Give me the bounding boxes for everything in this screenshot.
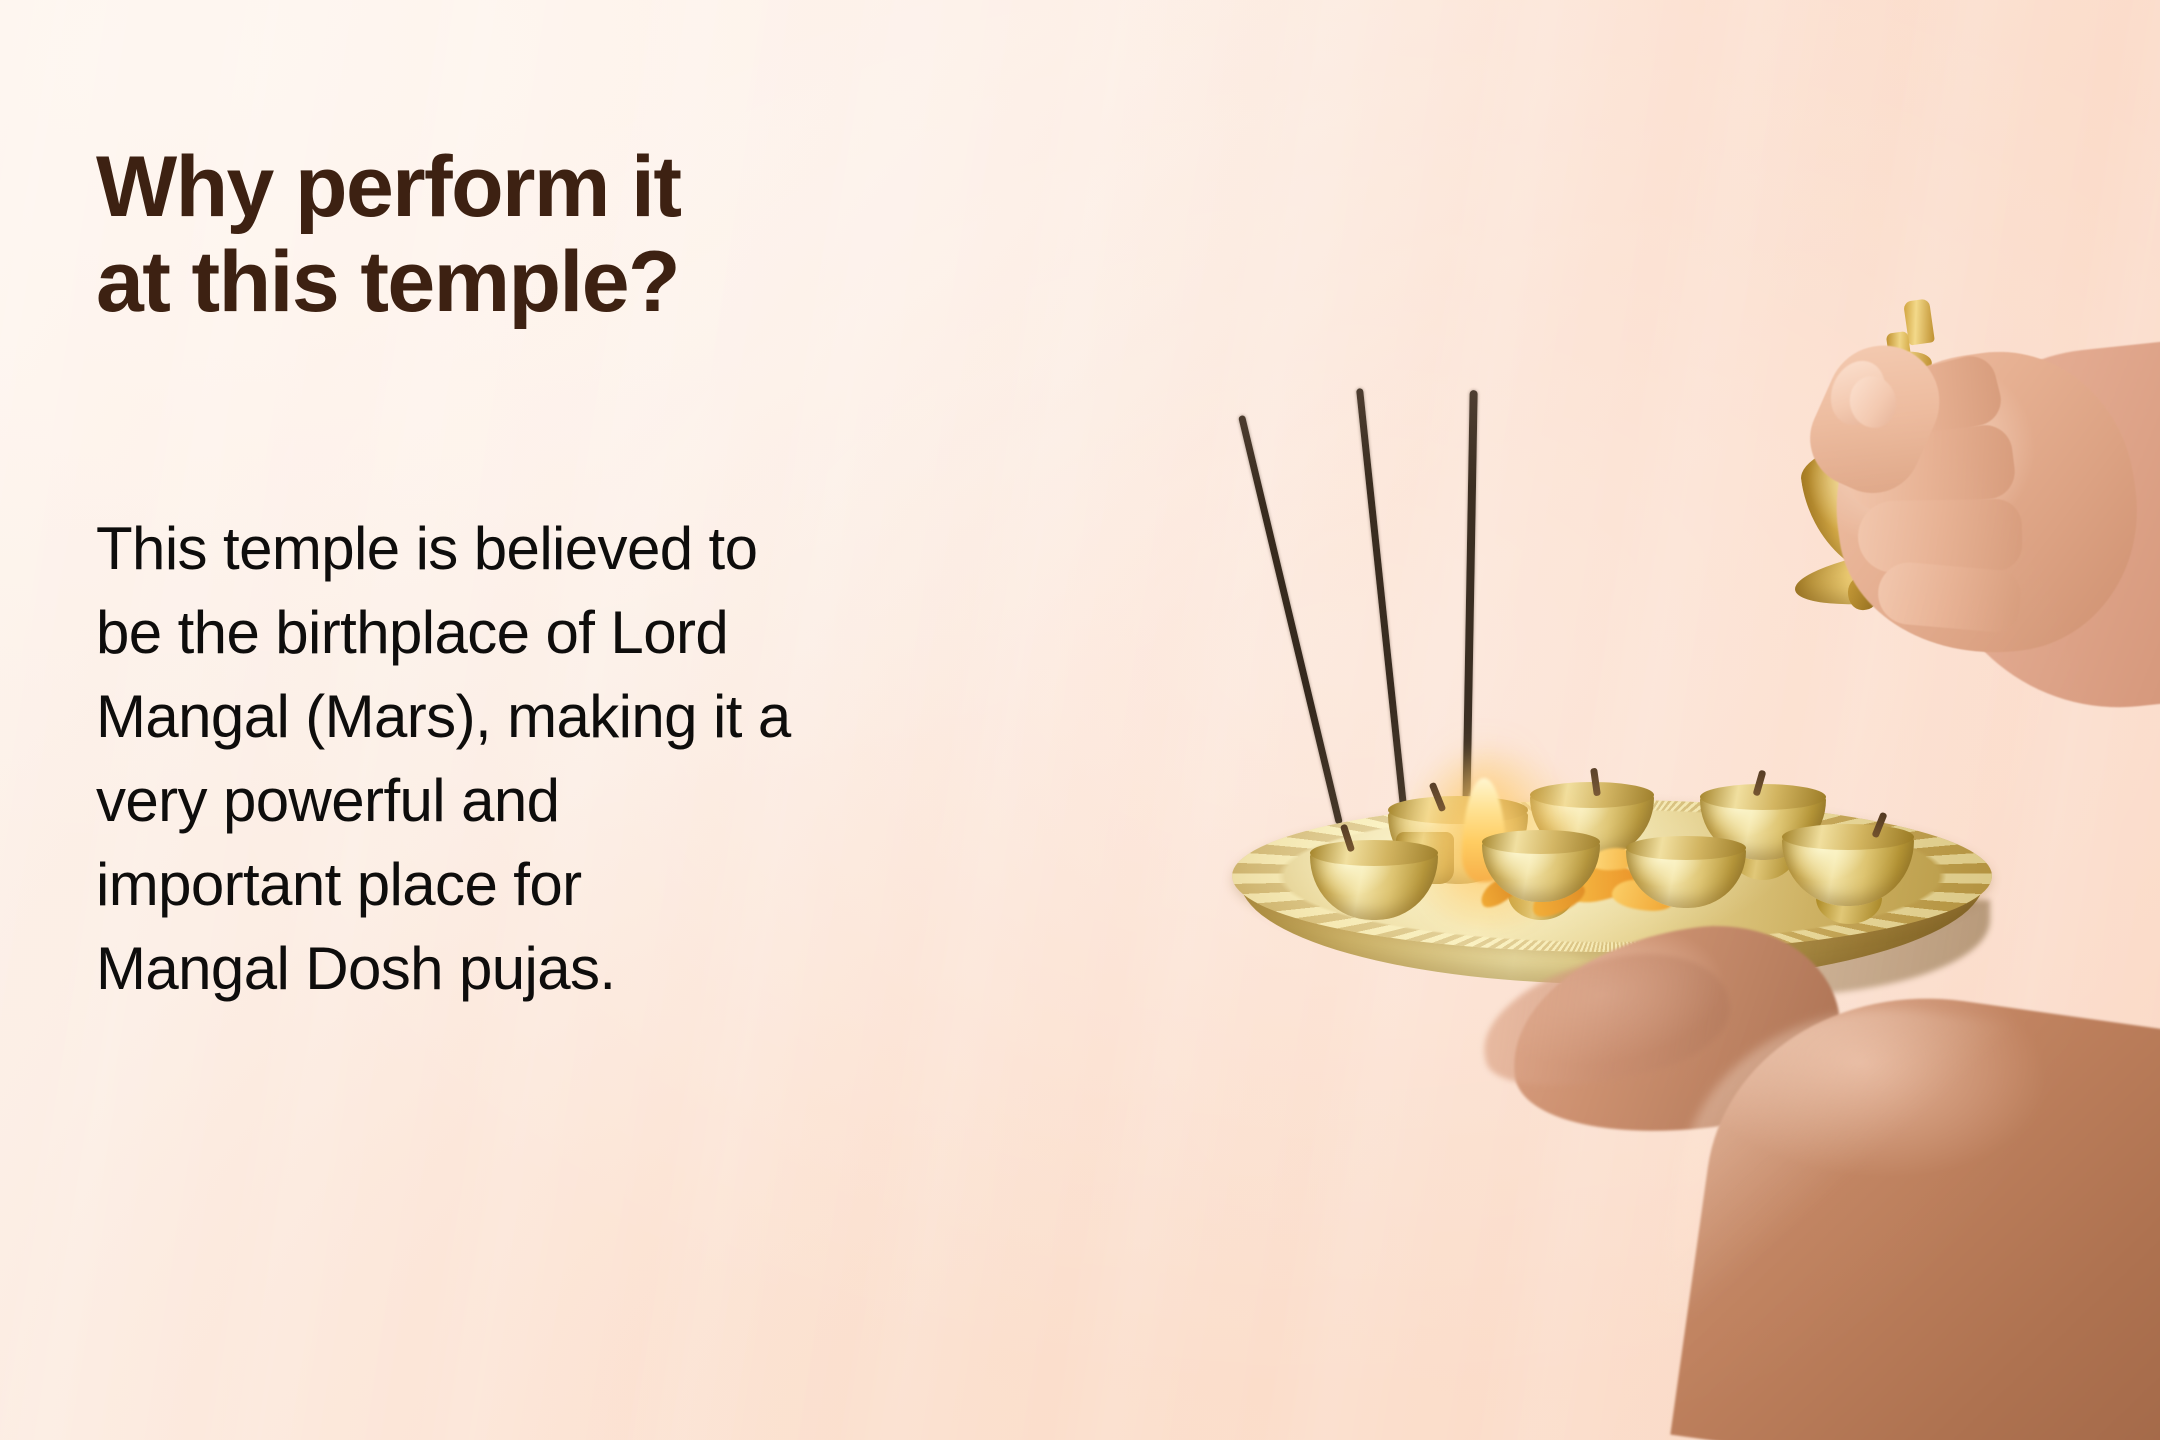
slide-canvas: Why perform it at this temple? This temp…	[0, 0, 2160, 1440]
diya-rim	[1626, 836, 1746, 860]
incense-stick-icon	[1238, 415, 1343, 825]
puja-photo	[1010, 0, 2160, 1440]
body-paragraph: This temple is believed to be the birthp…	[96, 507, 1056, 1011]
text-column: Why perform it at this temple? This temp…	[96, 140, 1096, 1011]
page-title: Why perform it at this temple?	[96, 140, 1096, 329]
diya-rim	[1700, 784, 1826, 810]
incense-stick-icon	[1356, 388, 1409, 826]
diya-rim	[1482, 830, 1600, 854]
ring-finger	[1857, 499, 2022, 574]
diya-rim	[1310, 840, 1438, 866]
diya-rim	[1782, 824, 1914, 850]
